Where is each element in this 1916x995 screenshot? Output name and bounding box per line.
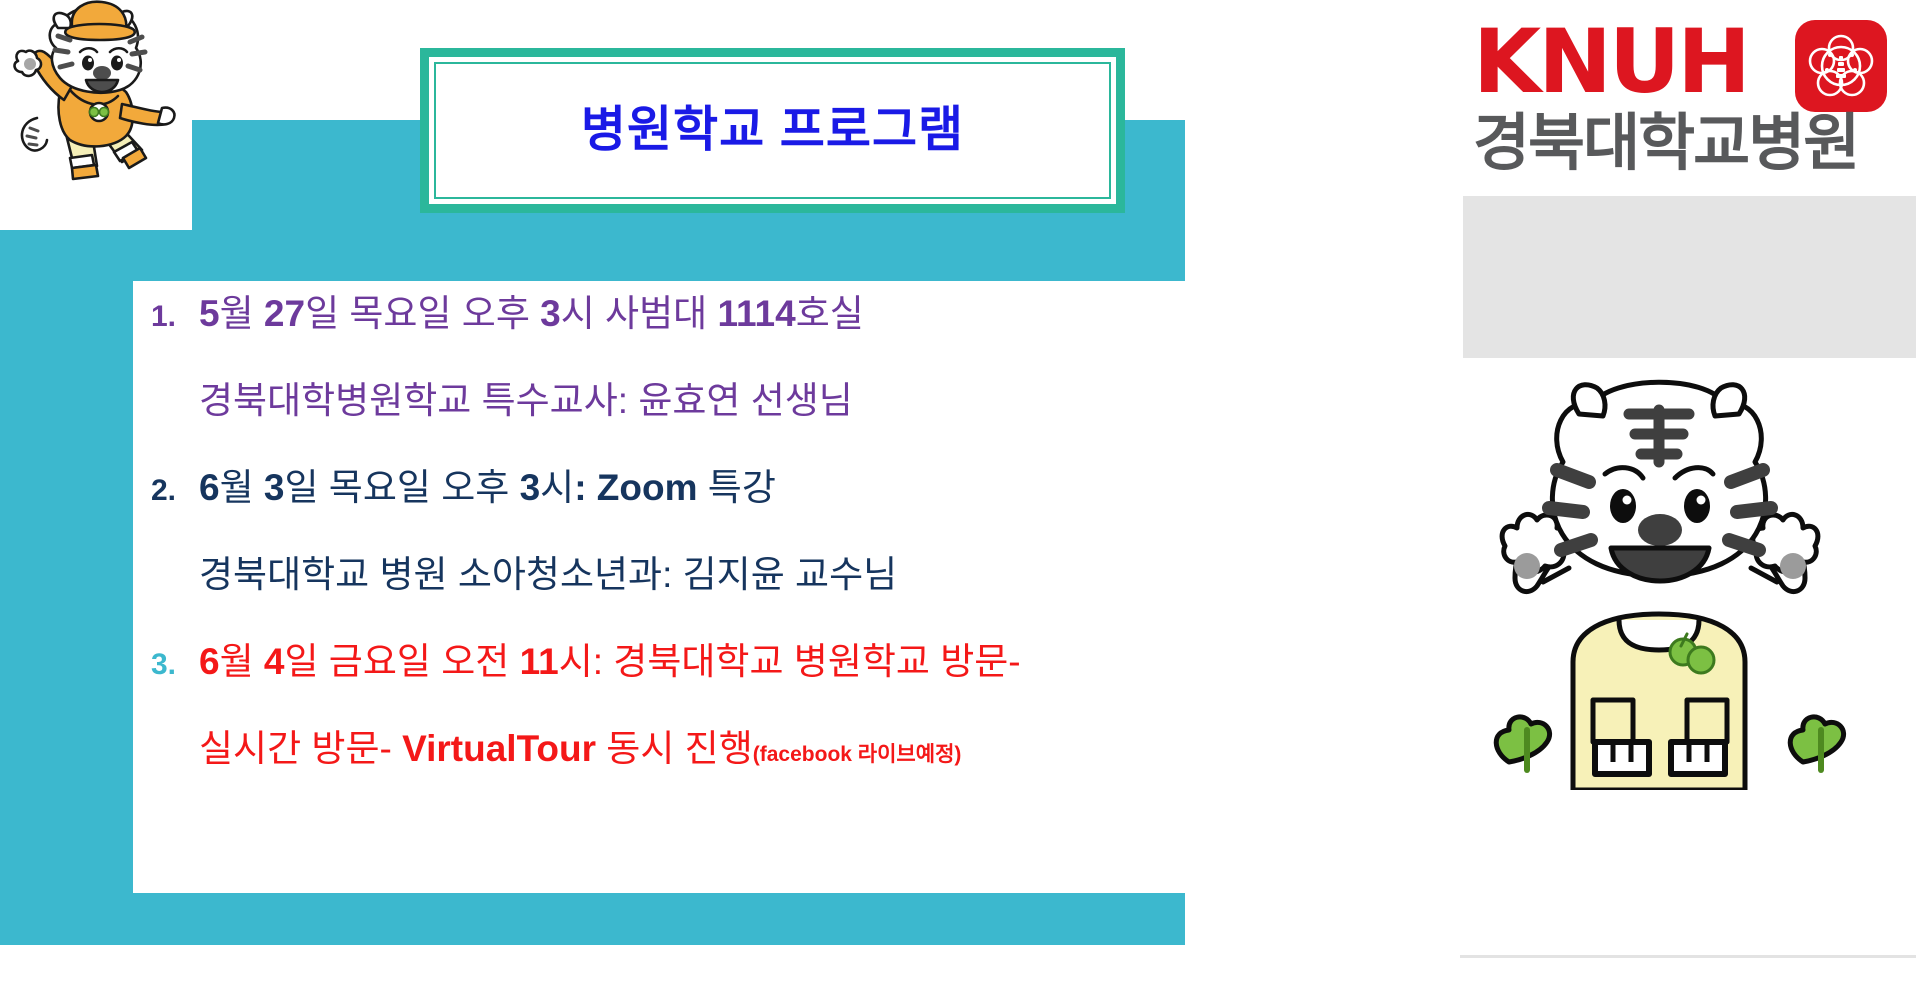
text-token: 3 — [264, 467, 285, 508]
list-item: 1. 5월 27일 목요일 오후 3시 사범대 1114호실 경북대학병원학교 … — [133, 295, 1288, 419]
list-item-text: 6월 3일 목요일 오후 3시: Zoom 특강 — [199, 469, 776, 506]
text-token: 27 — [264, 293, 305, 334]
text-token: 일 목요일 오후 — [284, 467, 519, 508]
text-token: 시 사범대 — [561, 293, 718, 334]
text-token: 월 — [220, 641, 264, 682]
text-token: 호실 — [796, 293, 864, 334]
text-token: 월 — [220, 293, 264, 334]
text-token: 1114 — [717, 293, 795, 334]
text-token: 6 — [199, 467, 220, 508]
list-item-primary-line: 2. 6월 3일 목요일 오후 3시: Zoom 특강 — [133, 469, 1288, 508]
gray-placeholder-band — [1463, 196, 1916, 358]
list-item: 3. 6월 4일 금요일 오전 11시: 경북대학교 병원학교 방문- 실시간 … — [133, 643, 1288, 767]
slide-canvas: 병원학교 프로그램 1. 5월 27일 목요일 오후 3시 사범대 1114호실… — [0, 0, 1916, 995]
text-token: 4 — [264, 641, 285, 682]
sub-line-text: 실시간 방문- VirtualTour 동시 진행 — [199, 728, 753, 769]
list-item-marker: 1. — [133, 300, 199, 334]
text-token: 11 — [520, 641, 559, 682]
logo-wordmark-row: KNUH — [1473, 16, 1903, 112]
text-token: 시: 경북대학교 병원학교 방문- — [559, 641, 1021, 682]
list-item-text: 6월 4일 금요일 오전 11시: 경북대학교 병원학교 방문- — [199, 643, 1021, 680]
knuh-flower-emblem-icon — [1795, 20, 1887, 112]
virtualtour-token: VirtualTour — [402, 728, 596, 769]
text-token: : Zoom — [574, 467, 708, 508]
knuh-korean-name: 경북대학교병원 — [1473, 108, 1858, 180]
text-token: 월 — [220, 467, 264, 508]
list-item-primary-line: 1. 5월 27일 목요일 오후 3시 사범대 1114호실 — [133, 295, 1288, 334]
text-token: 3 — [540, 293, 561, 334]
knuh-logo: KNUH — [1473, 16, 1903, 186]
list-item-sub-line: 경북대학병원학교 특수교사: 윤효연 선생님 — [133, 382, 1288, 419]
text-token: 시 — [540, 467, 574, 508]
text-token: 일 금요일 오전 — [284, 641, 519, 682]
list-item-sub-line: 경북대학교 병원 소아청소년과: 김지윤 교수님 — [133, 556, 1288, 593]
program-list: 1. 5월 27일 목요일 오후 3시 사범대 1114호실 경북대학병원학교 … — [133, 281, 1288, 893]
tiger-mascot-cheering-icon — [1443, 370, 1873, 790]
list-item-sub-line: 실시간 방문- VirtualTour 동시 진행(facebook 라이브예정… — [133, 730, 1288, 767]
text-token: 3 — [520, 467, 541, 508]
program-content-card: 1. 5월 27일 목요일 오후 3시 사범대 1114호실 경북대학병원학교 … — [133, 281, 1288, 893]
text-token: 특강 — [708, 467, 776, 508]
list-item-primary-line: 3. 6월 4일 금요일 오전 11시: 경북대학교 병원학교 방문- — [133, 643, 1288, 682]
text-token: 5 — [199, 293, 220, 334]
list-item-marker: 3. — [133, 648, 199, 682]
page-title: 병원학교 프로그램 — [581, 104, 964, 158]
tiger-mascot-waving-icon — [2, 0, 192, 190]
text-token: 6 — [199, 641, 220, 682]
sub-line-note: (facebook 라이브예정) — [753, 743, 962, 766]
title-box: 병원학교 프로그램 — [420, 48, 1125, 213]
bottom-divider-line — [1460, 955, 1916, 958]
list-item: 2. 6월 3일 목요일 오후 3시: Zoom 특강 경북대학교 병원 소아청… — [133, 469, 1288, 593]
list-item-marker: 2. — [133, 474, 199, 508]
text-token: 일 목요일 오후 — [305, 293, 540, 334]
list-item-text: 5월 27일 목요일 오후 3시 사범대 1114호실 — [199, 295, 864, 332]
knuh-wordmark: KNUH — [1473, 16, 1748, 108]
